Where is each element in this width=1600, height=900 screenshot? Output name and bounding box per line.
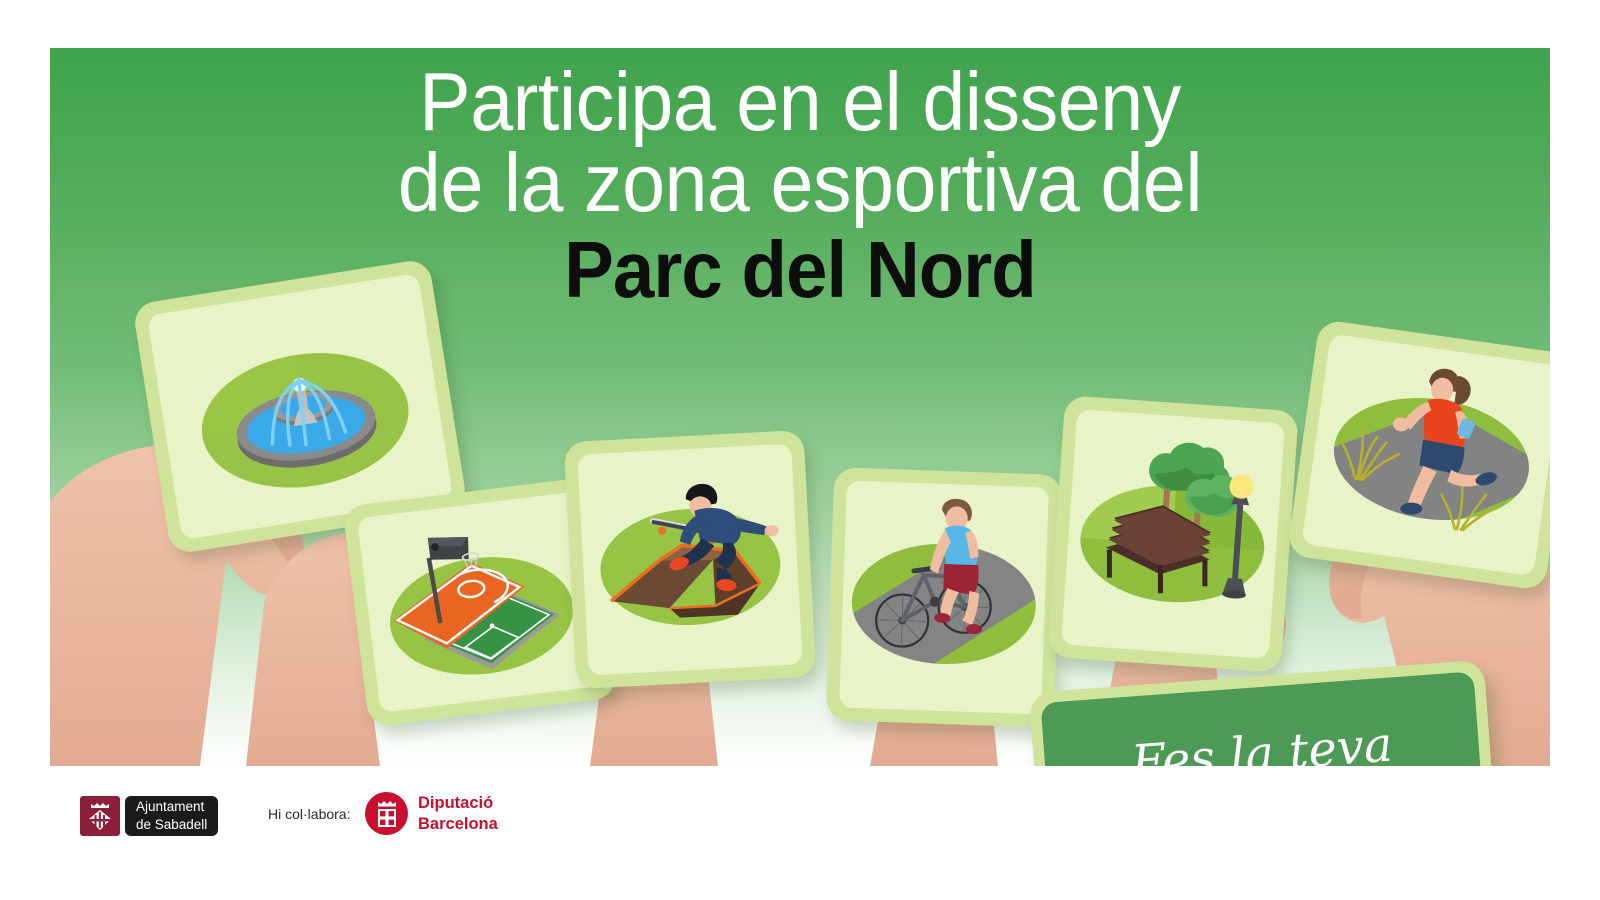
logo-ajuntament-sabadell[interactable]: Ajuntament de Sabadell [80,796,218,836]
sabadell-line-2: de Sabadell [136,816,207,834]
diputacio-wordmark: Diputació Barcelona [418,793,498,833]
sabadell-line-1: Ajuntament [136,798,207,816]
card-skatepark[interactable] [564,430,817,689]
footer-bar: Ajuntament de Sabadell Hi col·labora: [0,766,1600,900]
card-running[interactable] [1287,319,1550,591]
diputacio-crest-icon [365,792,408,835]
sports-court-icon [357,491,603,713]
banner-panel: Participa en el disseny de la zona espor… [50,48,1550,766]
running-icon [1301,334,1550,577]
logo-diputacio-barcelona[interactable]: Diputació Barcelona [365,792,498,835]
sabadell-crest-icon [80,796,120,836]
bench-trees-icon [1061,409,1285,659]
diputacio-line-1: Diputació [418,793,498,813]
poster-canvas: Participa en el disseny de la zona espor… [0,0,1600,900]
collaborates-label: Hi col·labora: [268,806,350,822]
skatepark-icon [577,444,802,676]
card-bench-trees[interactable] [1047,395,1299,673]
diputacio-line-2: Barcelona [418,814,498,834]
bike-path-icon [839,481,1049,715]
card-bike-path[interactable] [826,467,1063,728]
sabadell-wordmark: Ajuntament de Sabadell [125,796,218,836]
